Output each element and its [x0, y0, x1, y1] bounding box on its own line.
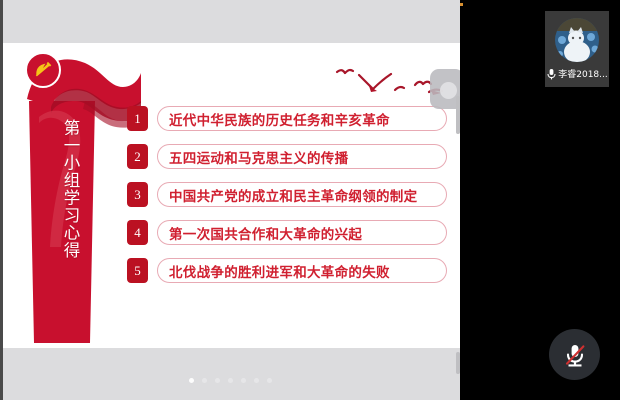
microphone-muted-icon: [560, 340, 590, 370]
meeting-screen-share-window: 第一小组学习心得: [0, 0, 620, 400]
list-item-label: 五四运动和马克思主义的传播: [169, 147, 348, 167]
list-item-pill[interactable]: 第一次国共合作和大革命的兴起: [157, 220, 447, 245]
presentation-slide: 第一小组学习心得: [3, 43, 460, 348]
participant-name: 李睿2018...: [558, 67, 608, 80]
participant-tile[interactable]: 李睿2018...: [545, 11, 609, 87]
list-item-label: 第一次国共合作和大革命的兴起: [169, 223, 362, 243]
mute-button[interactable]: [549, 329, 600, 380]
share-edge-nub-bottom[interactable]: [456, 352, 460, 374]
pagination-dot[interactable]: [228, 378, 233, 383]
red-ribbon-banner: 第一小组学习心得: [17, 47, 141, 343]
pagination-dot[interactable]: [254, 378, 259, 383]
list-item-number: 1: [127, 106, 148, 131]
list-item-pill[interactable]: 北伐战争的胜利进军和大革命的失败: [157, 258, 447, 283]
list-item-number: 3: [127, 182, 148, 207]
list-item[interactable]: 2 五四运动和马克思主义的传播: [127, 141, 447, 172]
hammer-and-sickle-icon: [31, 58, 55, 82]
avatar: [555, 18, 599, 62]
list-item-label: 北伐战争的胜利进军和大革命的失败: [169, 261, 390, 281]
pagination-dot[interactable]: [215, 378, 220, 383]
party-emblem-badge: [25, 52, 61, 88]
shared-screen-region[interactable]: 第一小组学习心得: [0, 0, 460, 400]
pagination-dot[interactable]: [189, 378, 194, 383]
list-item[interactable]: 1 近代中华民族的历史任务和辛亥革命: [127, 103, 447, 134]
list-item-number: 5: [127, 258, 148, 283]
pagination-dot[interactable]: [202, 378, 207, 383]
banner-title: 第一小组学习心得: [45, 119, 79, 339]
topic-list: 1 近代中华民族的历史任务和辛亥革命 2 五四运动和马克思主义的传播 3 中国共…: [127, 103, 447, 286]
list-item[interactable]: 5 北伐战争的胜利进军和大革命的失败: [127, 255, 447, 286]
pagination-dot[interactable]: [267, 378, 272, 383]
list-item-pill[interactable]: 近代中华民族的历史任务和辛亥革命: [157, 106, 447, 131]
screen-left-edge-strip: [0, 0, 3, 400]
list-item-number: 4: [127, 220, 148, 245]
list-item-number: 2: [127, 144, 148, 169]
microphone-icon: [546, 68, 557, 80]
list-item-label: 中国共产党的成立和民主革命纲领的制定: [169, 185, 417, 205]
list-item[interactable]: 3 中国共产党的成立和民主革命纲领的制定: [127, 179, 447, 210]
share-edge-nub-top[interactable]: [456, 96, 460, 134]
video-participants-panel: 李睿2018...: [460, 0, 620, 400]
participant-name-row: 李睿2018...: [545, 67, 609, 80]
slide-pagination[interactable]: [0, 378, 460, 383]
list-item-pill[interactable]: 五四运动和马克思主义的传播: [157, 144, 447, 169]
list-item[interactable]: 4 第一次国共合作和大革命的兴起: [127, 217, 447, 248]
pagination-dot[interactable]: [241, 378, 246, 383]
notification-indicator: [460, 3, 463, 6]
list-item-label: 近代中华民族的历史任务和辛亥革命: [169, 109, 390, 129]
list-item-pill[interactable]: 中国共产党的成立和民主革命纲领的制定: [157, 182, 447, 207]
